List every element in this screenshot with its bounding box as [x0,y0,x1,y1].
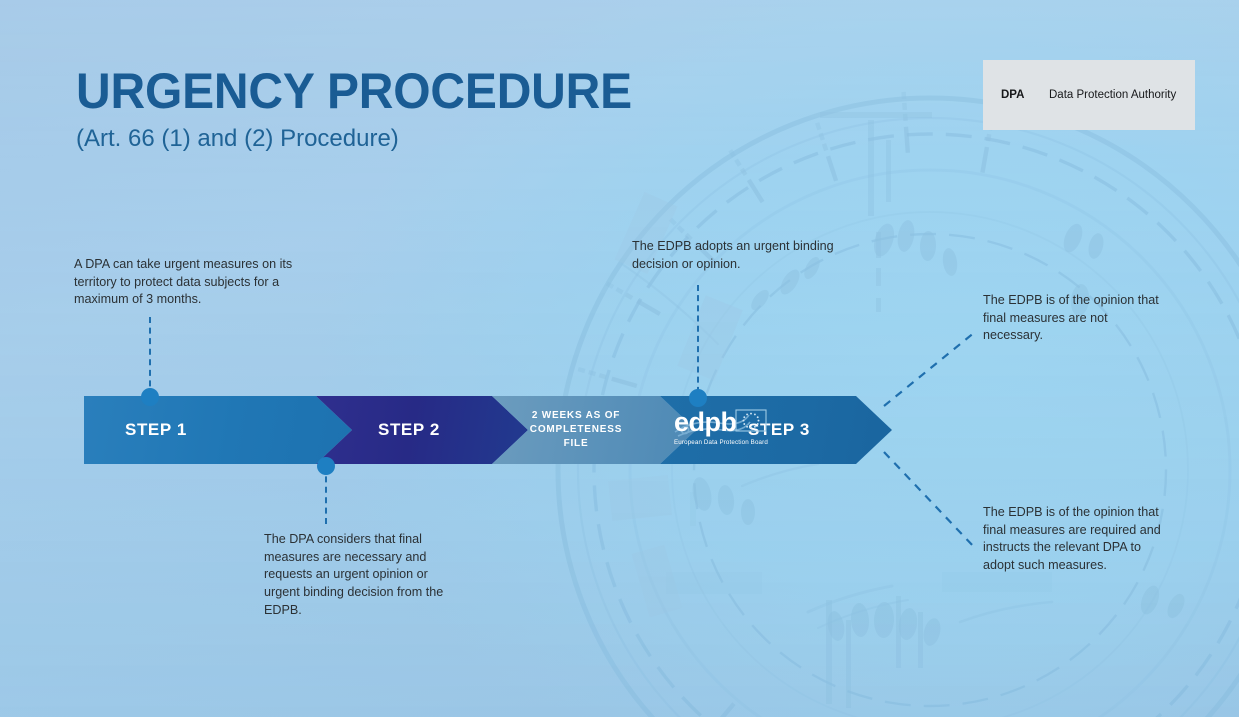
annotation-step1: A DPA can take urgent measures on its te… [74,256,322,309]
process-step-1[interactable]: STEP 1 [84,396,352,464]
title-block: URGENCY PROCEDURE (Art. 66 (1) and (2) P… [76,66,655,153]
process-step-interim-label: 2 WEEKS AS OF COMPLETENESS FILE [524,409,628,452]
annotation-outcome-required: The EDPB is of the opinion that final me… [983,504,1173,575]
legend-term: Data Protection Authority [1049,89,1176,101]
connector-dot-step3 [689,389,707,407]
process-step-1-label: STEP 1 [125,420,187,440]
annotation-step2: The DPA considers that final measures ar… [264,531,462,619]
annotation-step3: The EDPB adopts an urgent binding decisi… [632,238,862,273]
page-title: URGENCY PROCEDURE [76,66,632,117]
edpb-tagline: European Data Protection Board [674,439,768,446]
connector-line-step3 [697,285,699,403]
legend-abbreviation: DPA [1001,89,1049,101]
connector-dot-step1 [141,388,159,406]
page-subtitle: (Art. 66 (1) and (2) Procedure) [76,125,655,153]
edpb-wordmark: edpb [674,407,737,437]
annotation-outcome-not-necessary: The EDPB is of the opinion that final me… [983,292,1163,345]
legend-box: DPA Data Protection Authority [983,60,1195,130]
process-step-2-label: STEP 2 [378,420,440,440]
edpb-logo: edpb European Data Protection Board [672,402,802,454]
connector-dot-step2 [317,457,335,475]
connector-line-step1 [149,317,151,397]
eu-flag-icon [736,410,766,431]
